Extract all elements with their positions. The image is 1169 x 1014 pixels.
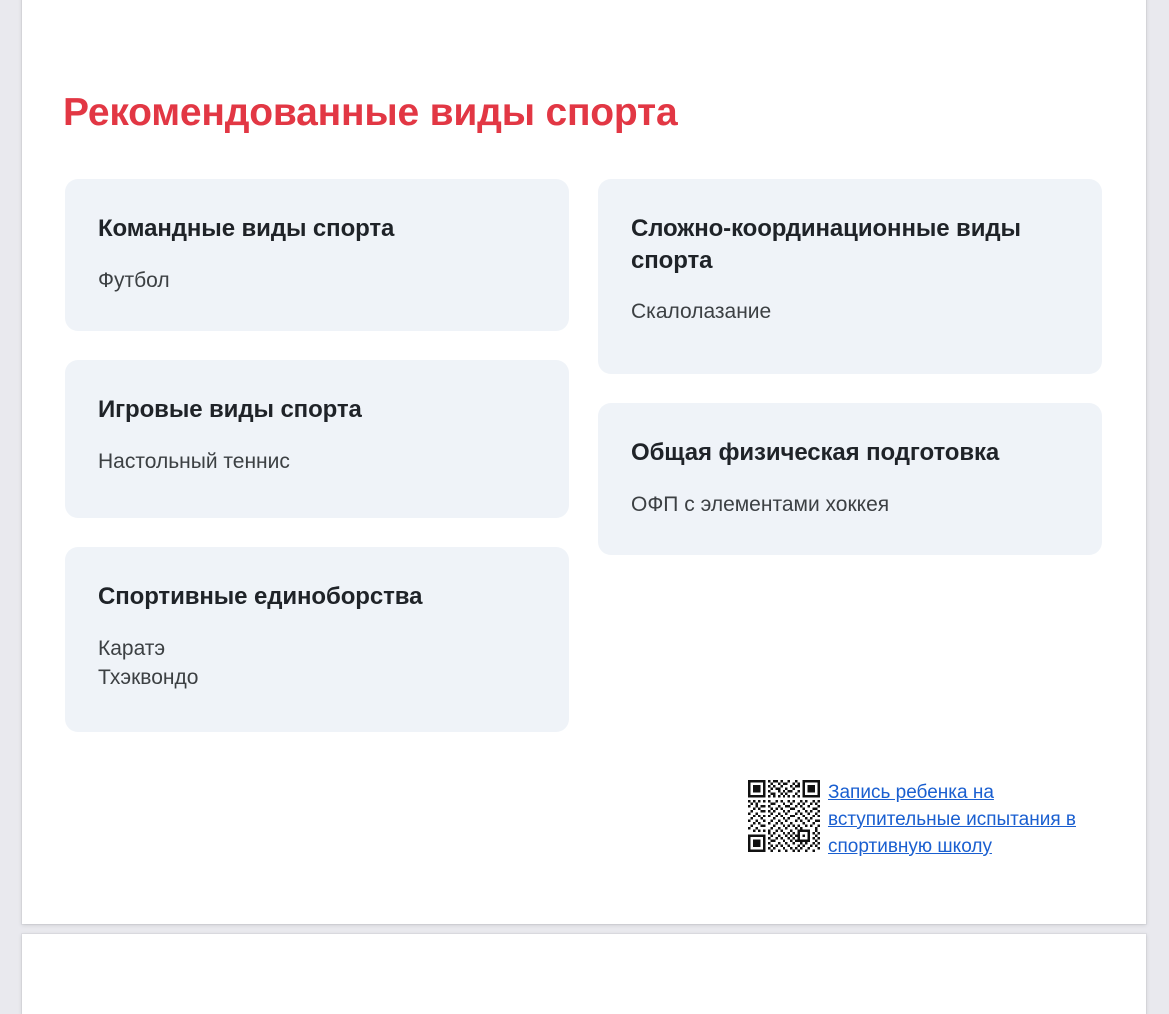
sport-item: Футбол (98, 267, 536, 296)
sport-card-items: Скалолазание (631, 298, 1069, 327)
qr-code-icon[interactable] (748, 780, 820, 852)
sport-item: Скалолазание (631, 298, 1069, 327)
sport-card-general-fitness[interactable]: Общая физическая подготовка ОФП с элемен… (598, 403, 1102, 555)
sport-card-items: Настольный теннис (98, 448, 536, 477)
sport-card-martial-arts[interactable]: Спортивные единоборства Каратэ Тхэквондо (65, 547, 569, 732)
sport-card-title: Сложно-координационные виды спорта (631, 213, 1069, 276)
document-page-1: Рекомендованные виды спорта Командные ви… (22, 0, 1146, 924)
sport-item: Тхэквондо (98, 664, 536, 693)
sport-card-title: Общая физическая подготовка (631, 437, 1069, 469)
sport-card-coordination[interactable]: Сложно-координационные виды спорта Скало… (598, 179, 1102, 374)
sport-card-title: Спортивные единоборства (98, 581, 536, 613)
qr-enrollment-block: Запись ребенка на вступительные испытани… (748, 780, 1106, 861)
document-viewer[interactable]: Рекомендованные виды спорта Командные ви… (0, 0, 1169, 959)
sport-card-game[interactable]: Игровые виды спорта Настольный теннис (65, 360, 569, 518)
card-column-left: Командные виды спорта Футбол Игровые вид… (65, 179, 569, 761)
slide-content: Рекомендованные виды спорта Командные ви… (22, 0, 1146, 924)
sport-card-items: ОФП с элементами хоккея (631, 491, 1069, 520)
enrollment-link[interactable]: Запись ребенка на вступительные испытани… (828, 780, 1106, 861)
sport-item: Настольный теннис (98, 448, 536, 477)
document-page-2 (22, 934, 1146, 1014)
sport-card-items: Каратэ Тхэквондо (98, 635, 536, 693)
sport-card-team[interactable]: Командные виды спорта Футбол (65, 179, 569, 331)
card-column-right: Сложно-координационные виды спорта Скало… (598, 179, 1102, 584)
sport-card-items: Футбол (98, 267, 536, 296)
sport-item: Каратэ (98, 635, 536, 664)
sport-card-title: Игровые виды спорта (98, 394, 536, 426)
page-title: Рекомендованные виды спорта (63, 91, 677, 135)
sport-card-title: Командные виды спорта (98, 213, 536, 245)
sport-item: ОФП с элементами хоккея (631, 491, 1069, 520)
